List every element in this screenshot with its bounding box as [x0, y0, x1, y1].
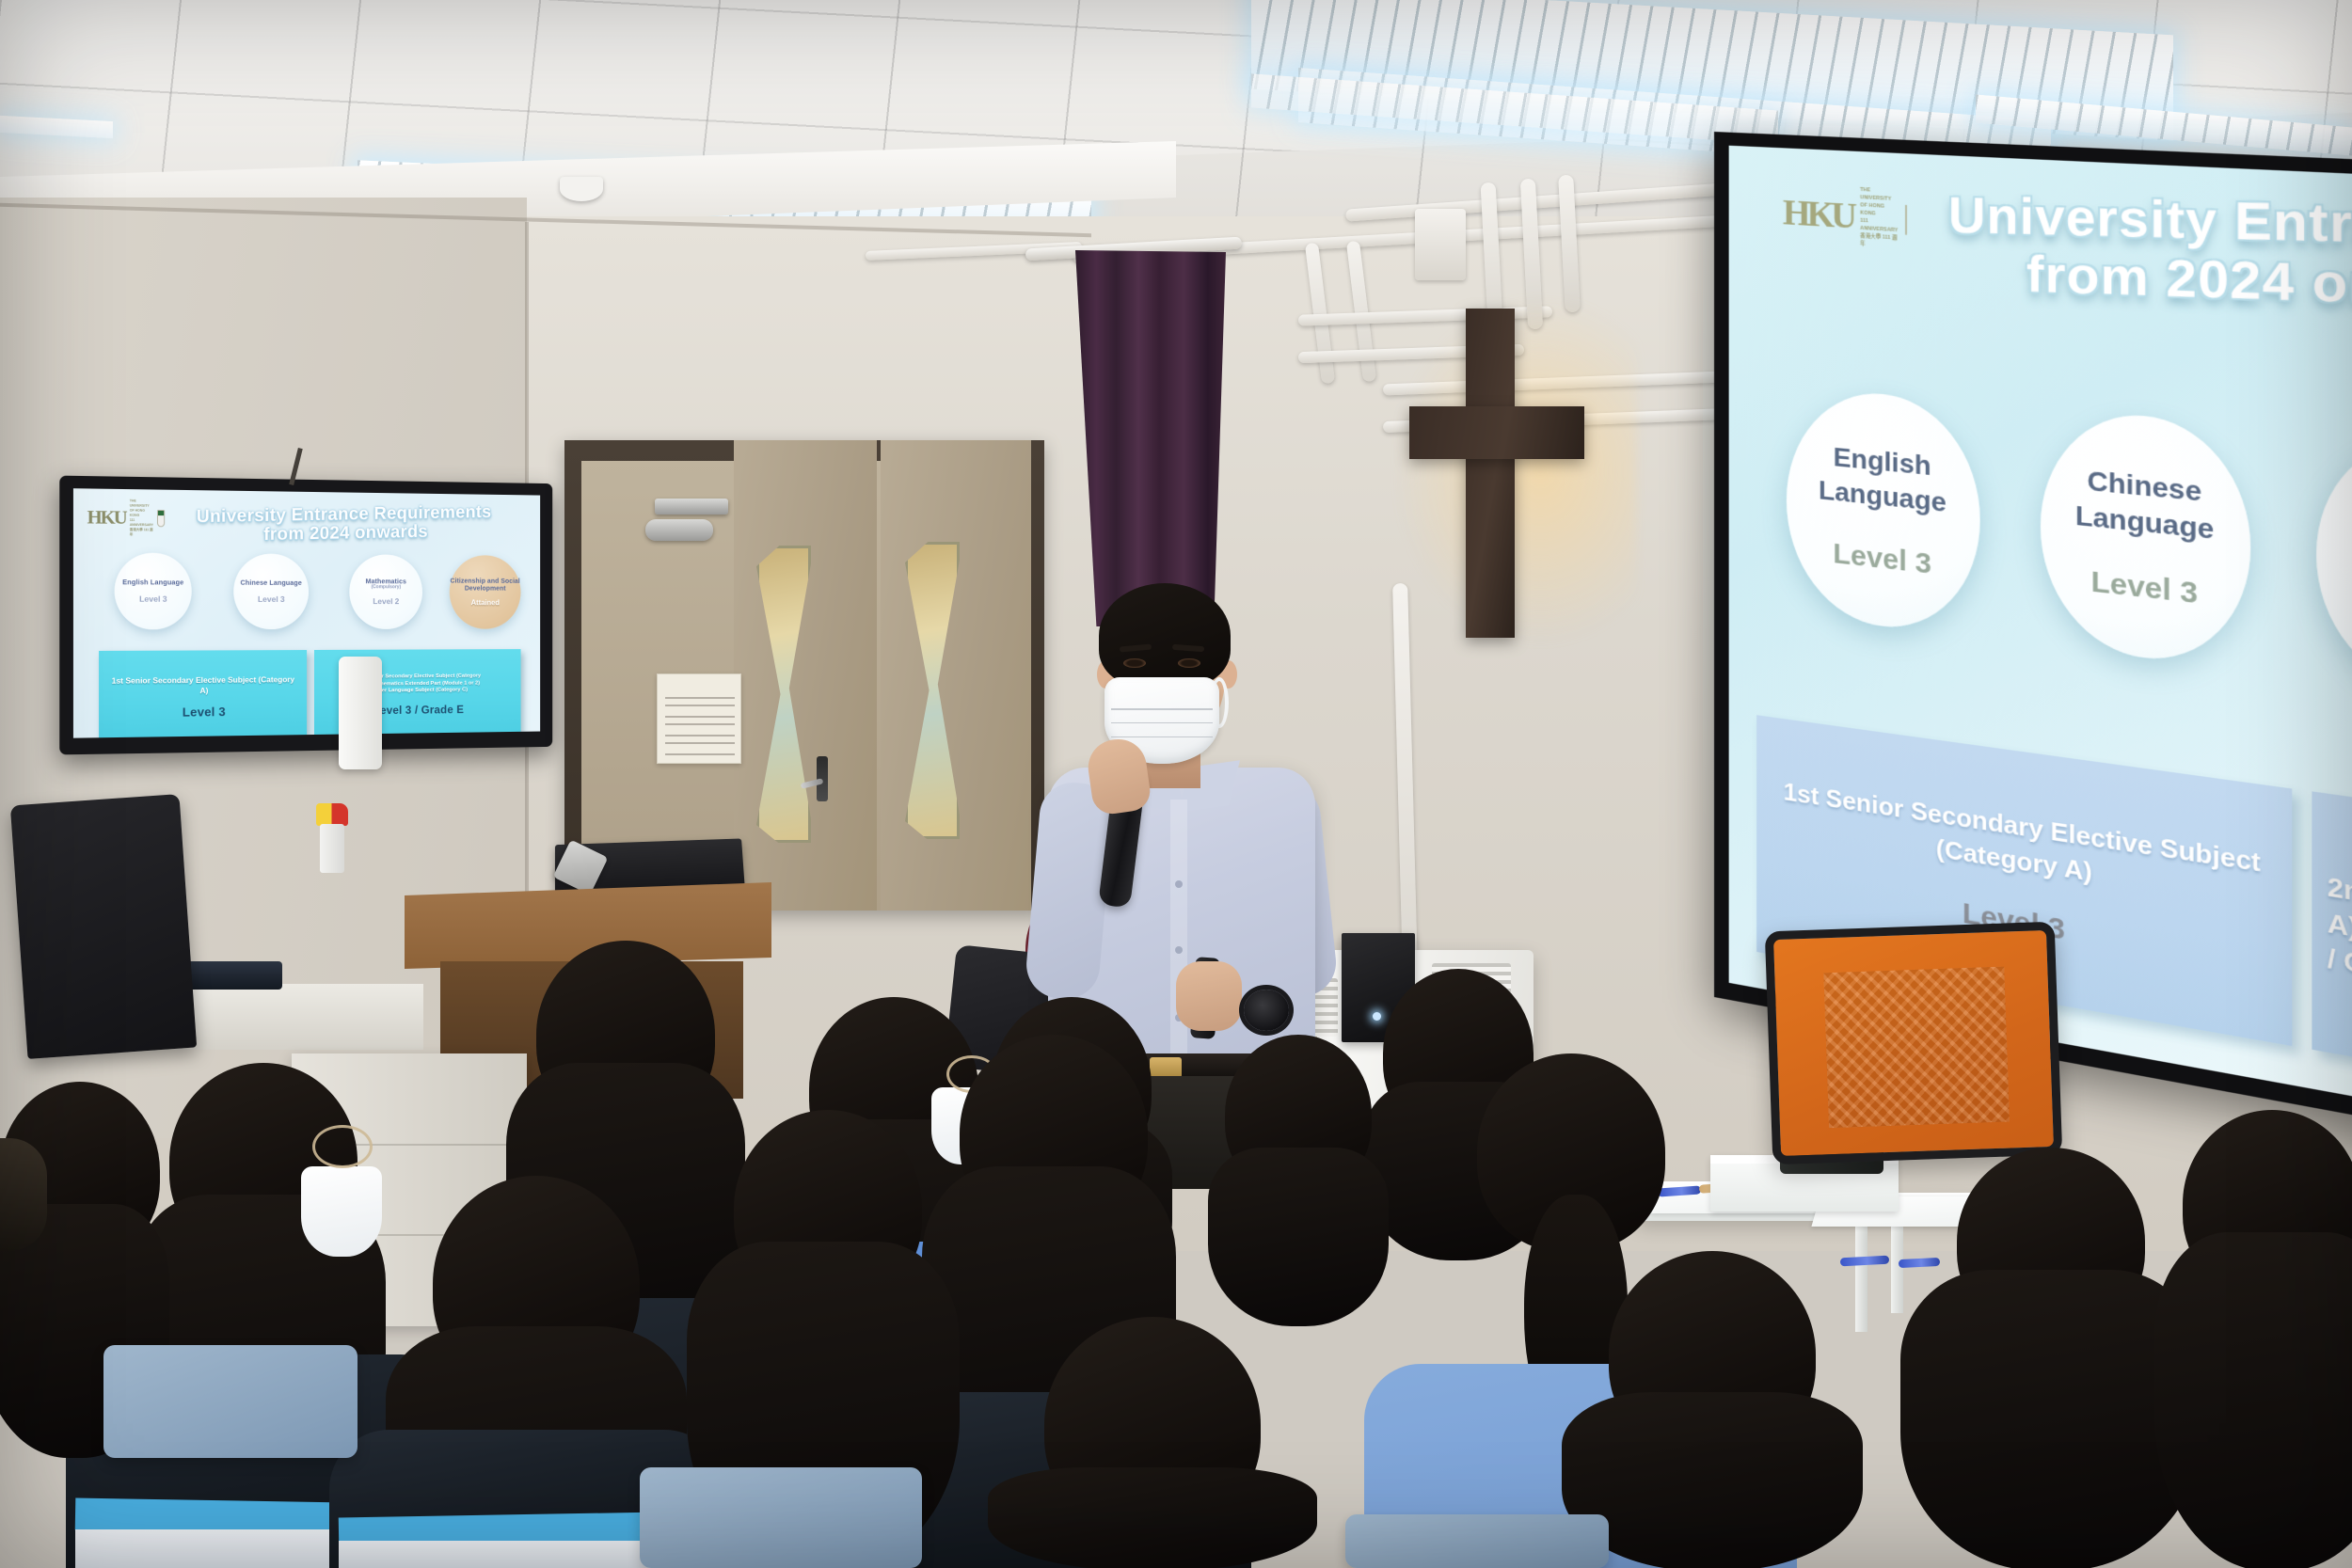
- lecture-hall-photo: HKU THE UNIVERSITY OF HONG KONG 111 ANNI…: [0, 0, 2352, 1568]
- presenter-eye: [1178, 658, 1200, 668]
- hku-wordmark: HKU: [87, 508, 126, 528]
- door-frame: [564, 440, 1044, 911]
- door-closer-arm: [645, 519, 713, 541]
- spray-nozzle-icon: [316, 803, 348, 826]
- presenter-hand-holding-clicker: [1176, 961, 1242, 1031]
- door-notice[interactable]: [657, 673, 741, 764]
- slide-circles-row-tv: English Language Level 3 Chinese Languag…: [73, 552, 540, 641]
- sanitizer-dispenser[interactable]: [339, 657, 382, 769]
- student: [2154, 1110, 2352, 1568]
- conduit-junction-box: [1415, 209, 1466, 280]
- auditorium-chair-back[interactable]: [640, 1467, 922, 1568]
- student-partial-face: [0, 1138, 47, 1251]
- slide-circle-citizenship: Citizenship and Social Development Attai…: [450, 555, 521, 629]
- hku-logo-text: THE UNIVERSITY OF HONG KONG 111 ANNIVERS…: [130, 499, 153, 538]
- slide-box-first-elective-tv: 1st Senior Secondary Elective Subject (C…: [99, 650, 307, 738]
- door-leaf-right[interactable]: [881, 440, 1031, 911]
- projected-circle-mathematics: Math (Com Le: [2316, 431, 2352, 706]
- wall-mounted-tv[interactable]: HKU THE UNIVERSITY OF HONG KONG 111 ANNI…: [59, 476, 552, 755]
- auditorium-chair-back[interactable]: [103, 1345, 358, 1458]
- projected-box-second-heading: 2nd Seni A) or Ma / O: [2328, 869, 2352, 997]
- presenter-hair: [1099, 583, 1231, 689]
- student: [941, 1317, 1336, 1568]
- door-handle[interactable]: [817, 756, 828, 801]
- auditorium-chair-back[interactable]: [1345, 1514, 1609, 1568]
- slide-circle-chinese: Chinese Language Level 3: [233, 553, 309, 629]
- slide-title-tv: University Entrance Requirements from 20…: [159, 503, 526, 547]
- spray-bottle-body: [320, 824, 344, 873]
- wristwatch: [1244, 990, 1289, 1031]
- student: [1204, 1035, 1392, 1317]
- hku-wordmark-projected: HKU: [1783, 195, 1853, 235]
- projected-circle-chinese: Chinese Language Level 3: [2041, 407, 2250, 671]
- projected-circle-english: English Language Level 3: [1787, 386, 1980, 638]
- black-chair[interactable]: [10, 794, 197, 1059]
- slide-circle-english: English Language Level 3: [115, 552, 192, 629]
- hku-crest-icon-projected: [1905, 204, 1907, 234]
- wall-cross-icon: [1392, 301, 1609, 640]
- hku-logo-projected: HKU THE UNIVERSITY OF HONG KONG 111 ANNI…: [1783, 186, 1907, 247]
- chair-mesh-back: [1824, 966, 2010, 1128]
- spray-bottle[interactable]: [320, 803, 344, 873]
- eyeglasses-icon: [312, 1125, 373, 1168]
- projected-box-first-heading: 1st Senior Secondary Elective Subject (C…: [1770, 773, 2277, 919]
- hku-logo-tv: HKU THE UNIVERSITY OF HONG KONG 111 ANNI…: [87, 501, 166, 535]
- window-curtain[interactable]: [1075, 250, 1226, 626]
- projected-slide-title: University Entrance R from 2024 on: [1948, 187, 2352, 324]
- orange-office-chair[interactable]: [1765, 922, 2062, 1165]
- slide-circle-mathematics: Mathematics (Compulsory) Level 2: [349, 554, 422, 629]
- smoke-detector-icon: [560, 177, 603, 201]
- projected-box-second-elective: 2nd Seni A) or Ma / O: [2312, 791, 2352, 1110]
- presenter-eye: [1123, 658, 1146, 668]
- tv-screen-slide: HKU THE UNIVERSITY OF HONG KONG 111 ANNI…: [73, 488, 540, 737]
- hku-logo-text-projected: THE UNIVERSITY OF HONG KONG 111 ANNIVERS…: [1860, 185, 1898, 250]
- door-closer: [655, 499, 728, 515]
